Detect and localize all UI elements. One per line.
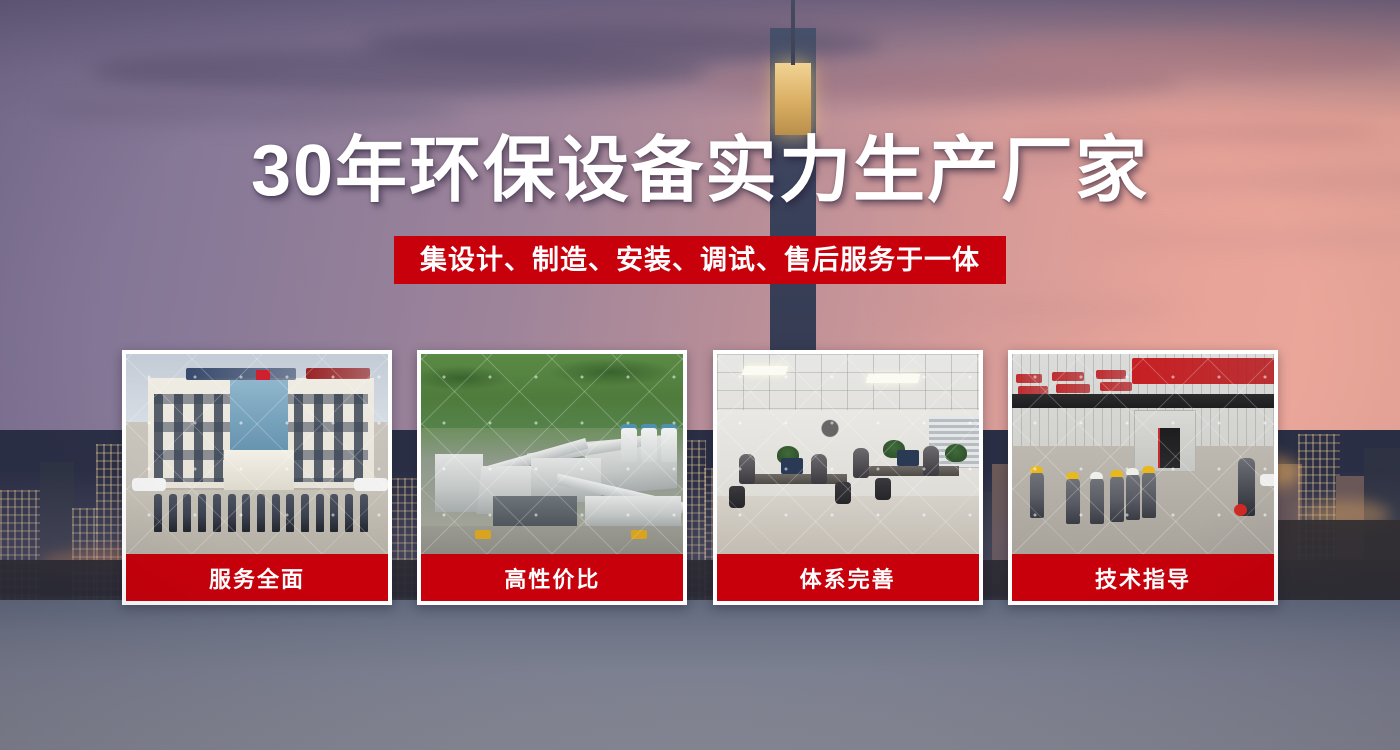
flag-icon	[256, 370, 270, 380]
office-interior-photo	[717, 354, 979, 554]
feature-card-list: 服务全面	[122, 350, 1278, 605]
red-helmet-icon	[1234, 504, 1247, 516]
subtitle-banner: 集设计、制造、安装、调试、售后服务于一体	[394, 236, 1006, 284]
banner-content: 30年环保设备实力生产厂家 集设计、制造、安装、调试、售后服务于一体	[0, 0, 1400, 750]
building-sign	[186, 368, 296, 380]
feature-card[interactable]: 高性价比	[417, 350, 687, 605]
banner-stage: 30年环保设备实力生产厂家 集设计、制造、安装、调试、售后服务于一体	[0, 0, 1400, 750]
feature-card-label: 体系完善	[717, 554, 979, 601]
feature-card-label: 服务全面	[126, 554, 388, 601]
company-headquarters-photo	[126, 354, 388, 554]
workshop-team-photo	[1012, 354, 1274, 554]
page-title: 30年环保设备实力生产厂家	[0, 128, 1400, 214]
production-plant-aerial-photo	[421, 354, 683, 554]
subtitle-container: 集设计、制造、安装、调试、售后服务于一体	[0, 236, 1400, 284]
building-phone-sign	[306, 368, 370, 379]
feature-card[interactable]: 技术指导	[1008, 350, 1278, 605]
feature-card-label: 高性价比	[421, 554, 683, 601]
feature-card[interactable]: 体系完善	[713, 350, 983, 605]
feature-card[interactable]: 服务全面	[122, 350, 392, 605]
wall-decal	[813, 418, 847, 444]
factory-wall-sign	[1132, 358, 1274, 384]
feature-card-label: 技术指导	[1012, 554, 1274, 601]
